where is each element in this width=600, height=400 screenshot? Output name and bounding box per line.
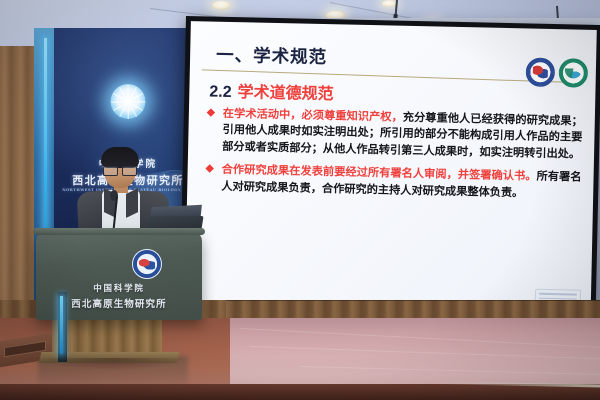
cas-sunburst-emblem: [111, 84, 146, 119]
stage-light-pole: [58, 292, 67, 362]
institute-round-emblem-icon: [132, 249, 162, 279]
hanging-wire: [395, 0, 398, 16]
slide-section-title: 一、学术规范: [216, 42, 328, 69]
bullet-text: 在学术活动中，必须尊重知识产权，充分尊重他人已经获得的研究成果；引用他人成果时如…: [222, 106, 583, 163]
ceiling-downlight: [212, 1, 231, 10]
slide-subsection-heading: 2.2学术道德规范: [209, 78, 334, 105]
presentation-photo-scene: 中国科学院 西北高原生物研究所 NORTHWEST INSTITUTE OF P…: [0, 0, 600, 400]
diamond-bullet-icon: [207, 108, 215, 116]
slide-bullet-item: 在学术活动中，必须尊重知识产权，充分尊重他人已经获得的研究成果；引用他人成果时如…: [206, 105, 583, 162]
speaker-hair: [101, 147, 139, 168]
partner-logo-green-icon: [559, 58, 589, 88]
subsection-number: 2.2: [209, 84, 232, 101]
subsection-title: 学术道德规范: [237, 84, 333, 103]
bullet-segment-red: 合作研究成果在发表前要经过所有署名人审阅，并签署确认书。: [222, 164, 537, 183]
slide-bullet-list: 在学术活动中，必须尊重知识产权，充分尊重他人已经获得的研究成果；引用他人成果时如…: [205, 105, 583, 209]
diamond-bullet-icon: [205, 164, 213, 172]
bullet-segment-red: 在学术活动中，必须尊重知识产权，: [223, 108, 403, 124]
left-wood-panel: [0, 46, 36, 312]
stage-edge: [0, 384, 600, 400]
eyeglasses-icon: [103, 166, 137, 174]
presentation-slide: 一、学术规范 2.2学术道德规范 在学术活动中，必须尊重知识产权，充分尊重他人已…: [185, 21, 597, 318]
bullet-text: 合作研究成果在发表前要经过所有署名人审阅，并签署确认书。所有署名人对研究成果负责…: [221, 162, 582, 203]
podium-top-surface: [33, 228, 205, 235]
cas-institute-logo-blue-icon: [526, 57, 556, 87]
slide-bullet-item: 合作研究成果在发表前要经过所有署名人审阅，并签署确认书。所有署名人对研究成果负责…: [205, 162, 582, 203]
slide-logo-group: [526, 57, 589, 87]
projection-screen: 一、学术规范 2.2学术道德规范 在学术活动中，必须尊重知识产权，充分尊重他人已…: [179, 16, 600, 325]
